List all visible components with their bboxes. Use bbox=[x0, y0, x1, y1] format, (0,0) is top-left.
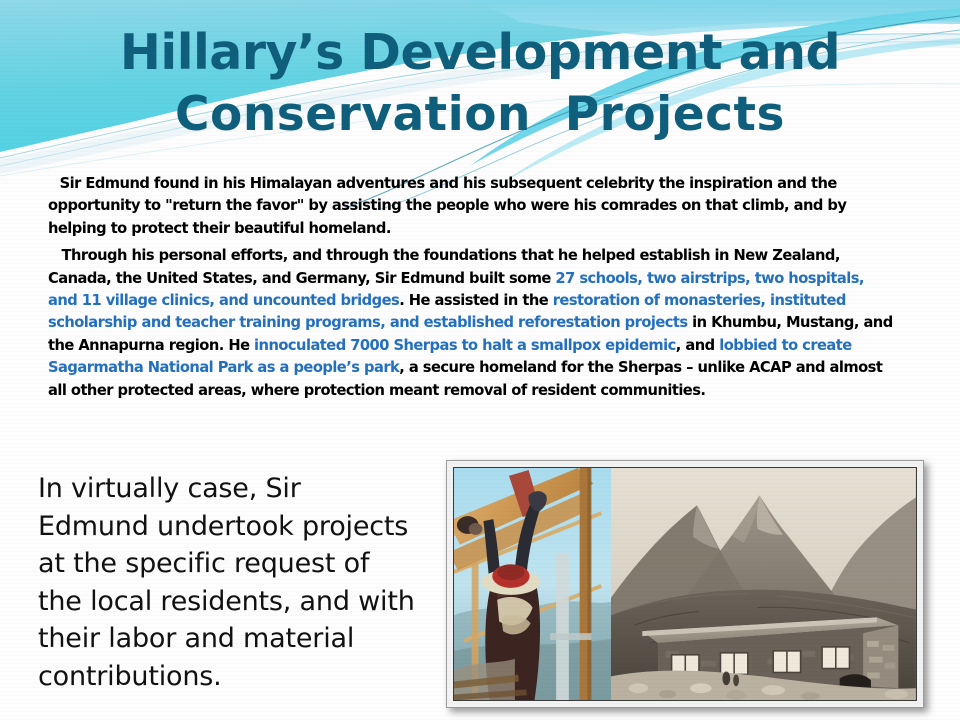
photo-composite bbox=[453, 467, 917, 701]
paragraph-1-run-0: Sir Edmund found in his Himalayan advent… bbox=[48, 174, 846, 237]
paragraph-1: Sir Edmund found in his Himalayan advent… bbox=[48, 172, 897, 239]
construction-illustration bbox=[454, 468, 611, 700]
paragraph-2-highlight-5: innoculated 7000 Sherpas to halt a small… bbox=[254, 336, 676, 354]
schoolhouse-illustration bbox=[611, 468, 916, 700]
paragraph-2: Through his personal efforts, and throug… bbox=[48, 244, 897, 401]
slide: Hillary’s Development and Conservation P… bbox=[0, 0, 960, 720]
title-line-2: Conservation Projects bbox=[0, 84, 960, 146]
photo-construction-panel bbox=[454, 468, 611, 700]
closing-statement: In virtually case, Sir Edmund undertook … bbox=[38, 470, 438, 695]
photo-frame bbox=[446, 460, 924, 708]
slide-title: Hillary’s Development and Conservation P… bbox=[0, 22, 960, 146]
body-text: Sir Edmund found in his Himalayan advent… bbox=[48, 172, 928, 404]
photo-schoolhouse-panel bbox=[611, 468, 916, 700]
title-line-1: Hillary’s Development and bbox=[0, 22, 960, 84]
paragraph-2-run-2: . He assisted in the bbox=[399, 291, 553, 309]
paragraph-2-run-6: , and bbox=[676, 336, 719, 354]
